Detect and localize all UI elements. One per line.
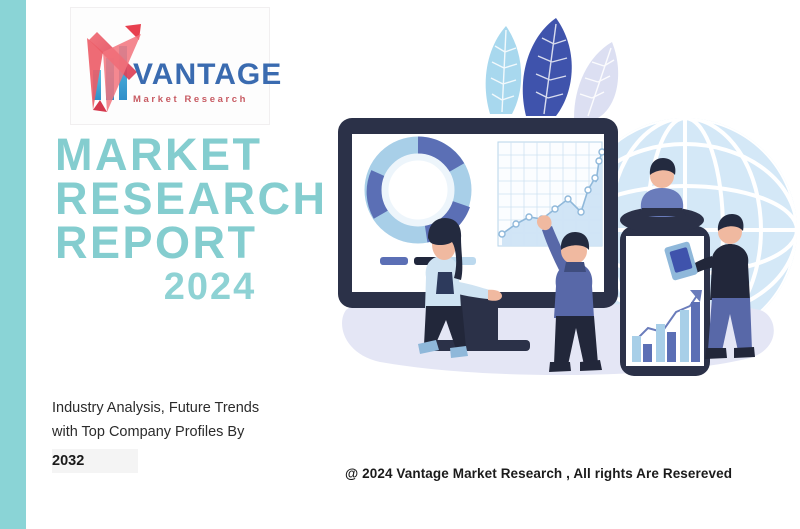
title-line-1: MARKET: [55, 133, 355, 177]
copyright-footer: @ 2024 Vantage Market Research , All rig…: [345, 466, 732, 481]
subtitle-line-2: with Top Company Profiles By: [52, 420, 352, 444]
leaf-decoration: [486, 18, 619, 118]
page-title: MARKET RESEARCH REPORT 2024: [55, 133, 355, 307]
subtitle-year: 2032: [52, 449, 138, 473]
title-line-2: RESEARCH: [55, 177, 355, 221]
vantage-logo: VANTAGE Market Research: [70, 7, 270, 125]
subtitle: Industry Analysis, Future Trends with To…: [52, 396, 352, 473]
smartphone-bar-chart: [620, 226, 710, 376]
subtitle-line-1: Industry Analysis, Future Trends: [52, 396, 352, 420]
logo-tagline: Market Research: [133, 94, 273, 105]
left-accent-bar: [0, 0, 26, 529]
logo-name: VANTAGE: [133, 60, 273, 90]
logo-wordmark: VANTAGE Market Research: [133, 60, 273, 105]
market-research-dashboard-illustration: [330, 18, 800, 388]
title-line-3: REPORT: [55, 221, 355, 265]
report-cover-page: VANTAGE Market Research MARKET RESEARCH …: [0, 0, 800, 529]
title-year: 2024: [55, 269, 355, 306]
